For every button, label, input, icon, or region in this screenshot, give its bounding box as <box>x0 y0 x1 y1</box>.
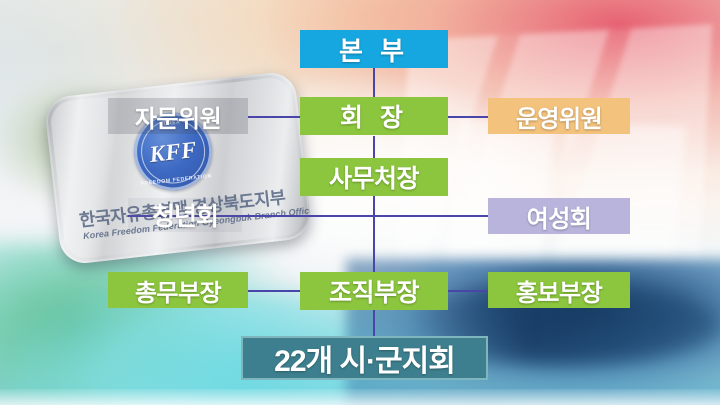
node-pr[interactable]: 홍보부장 <box>488 272 630 308</box>
edge-general-org <box>248 290 300 292</box>
node-chairman[interactable]: 회 장 <box>300 97 448 135</box>
node-branches[interactable]: 22개 시·군지회 <box>241 336 488 380</box>
edge-hq-chairman <box>373 68 375 98</box>
node-hq[interactable]: 본 부 <box>300 30 448 68</box>
node-secgen[interactable]: 사무처장 <box>300 158 448 196</box>
node-general[interactable]: 총무부장 <box>108 272 248 308</box>
background-bottom-edge <box>0 389 720 405</box>
org-chart-slide: KOREA KFF FREEDOM FEDERATION 한국자유총연맹 경상북… <box>0 0 720 405</box>
edge-chairman-steering <box>448 116 488 118</box>
node-org[interactable]: 조직부장 <box>300 272 448 310</box>
node-youth[interactable]: 청년회 <box>128 198 242 232</box>
node-steering[interactable]: 운영위원 <box>488 98 630 134</box>
edge-secgen-org <box>373 196 375 274</box>
edge-org-branches <box>373 310 375 338</box>
node-women[interactable]: 여성회 <box>488 198 630 234</box>
edge-chairman-secgen <box>373 136 375 158</box>
edge-org-pr <box>448 290 488 292</box>
node-advisor[interactable]: 자문위원 <box>108 98 248 134</box>
edge-advisor-chairman <box>248 116 300 118</box>
